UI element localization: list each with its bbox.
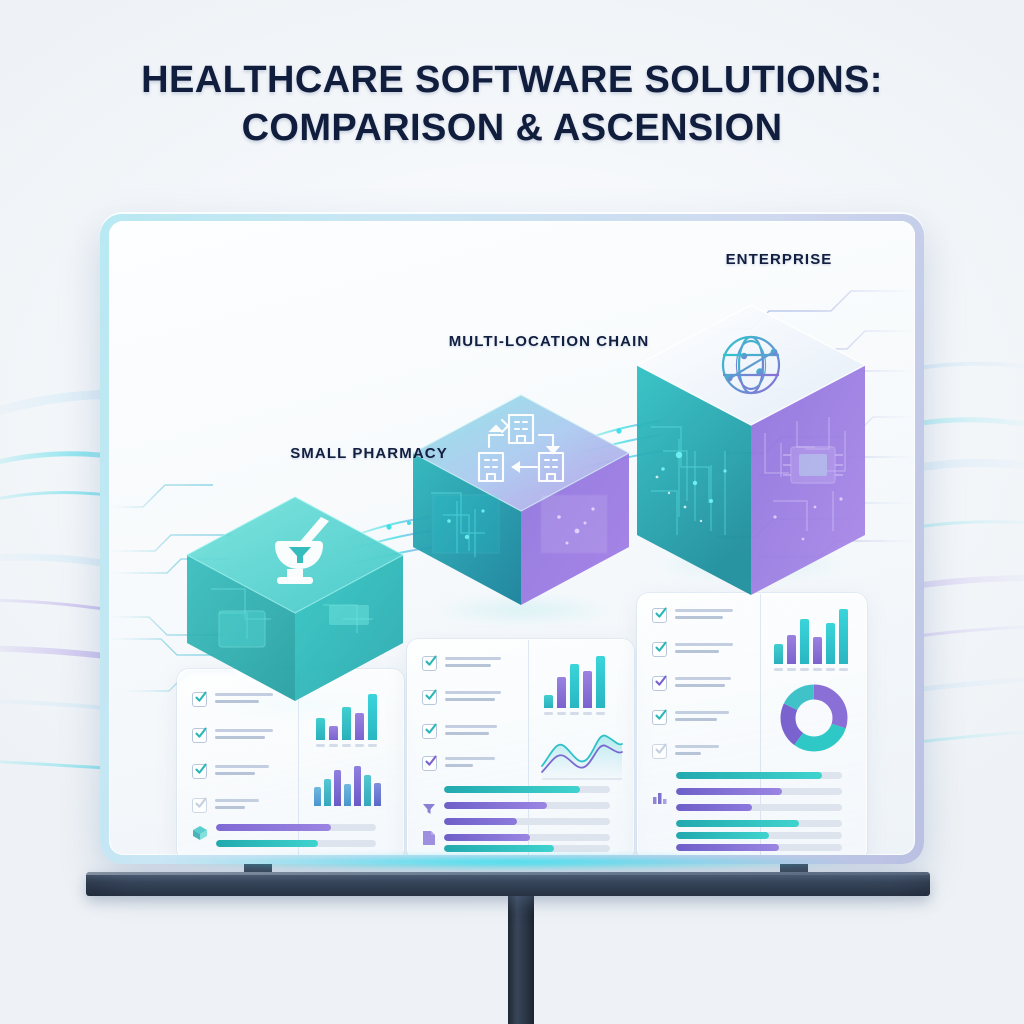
title-line-2: COMPARISON & ASCENSION	[0, 104, 1024, 152]
dashboard-card-multi-location-chain[interactable]	[407, 639, 634, 855]
check-icon	[424, 722, 438, 736]
progress-bar	[216, 824, 376, 831]
checklist-text	[675, 642, 733, 653]
dashboard-card-enterprise[interactable]	[637, 593, 867, 855]
infographic-stage: SMALL PHARMACY	[109, 221, 915, 855]
checkbox-checked[interactable]	[422, 724, 437, 739]
progress-bar	[216, 840, 376, 847]
progress-bar	[676, 832, 842, 839]
card-divider	[760, 594, 761, 855]
check-icon	[654, 640, 668, 654]
bar-chart-bottom	[314, 758, 381, 806]
checkbox-checked[interactable]	[422, 690, 437, 705]
tier-label-small-pharmacy: SMALL PHARMACY	[259, 443, 479, 464]
checkbox-checked[interactable]	[652, 642, 667, 657]
progress-bar	[444, 786, 610, 793]
checklist-item[interactable]	[652, 676, 731, 691]
bar	[316, 718, 325, 740]
checkbox-checked[interactable]	[652, 608, 667, 623]
check-icon	[654, 674, 668, 688]
checklist-item[interactable]	[422, 756, 495, 771]
bar	[342, 707, 351, 740]
checklist-text	[445, 690, 501, 701]
progress-bar	[444, 818, 610, 825]
checklist-item[interactable]	[422, 690, 501, 705]
area-line-chart	[540, 726, 624, 784]
filter-icon	[422, 802, 436, 821]
checklist-text	[675, 608, 733, 619]
bar	[329, 726, 338, 740]
checklist-text	[445, 656, 501, 667]
progress-bar	[676, 804, 842, 811]
checklist-text	[675, 744, 719, 755]
checklist-item[interactable]	[652, 710, 729, 725]
check-icon	[194, 726, 208, 740]
check-icon	[654, 708, 668, 722]
checklist-item[interactable]	[652, 642, 733, 657]
checklist-text	[215, 728, 273, 739]
checklist-item[interactable]	[652, 744, 719, 759]
checkbox-checked[interactable]	[652, 676, 667, 691]
progress-bar	[444, 845, 610, 852]
monitor-screen: SMALL PHARMACY	[109, 221, 915, 855]
checkbox-unchecked[interactable]	[652, 744, 667, 759]
donut-chart	[778, 682, 850, 754]
axis-ticks	[774, 668, 848, 671]
check-icon	[424, 754, 438, 768]
cube-small-pharmacy[interactable]	[183, 493, 407, 705]
monitor-stand-column	[508, 890, 534, 1024]
tier-label-multi-location-chain: MULTI-LOCATION CHAIN	[419, 331, 679, 352]
checklist-text	[215, 764, 269, 775]
bar-chart-icon	[652, 790, 668, 809]
checklist-text	[215, 798, 259, 809]
axis-ticks	[316, 744, 377, 747]
checklist-text	[445, 756, 495, 767]
checklist-text	[675, 710, 729, 721]
progress-bar	[676, 820, 842, 827]
progress-bar	[444, 802, 610, 809]
check-icon	[654, 742, 668, 756]
progress-bar	[444, 834, 610, 841]
check-icon	[194, 796, 208, 810]
progress-bar	[676, 844, 842, 851]
checklist-item[interactable]	[192, 798, 259, 813]
title-line-1: HEALTHCARE SOFTWARE SOLUTIONS:	[0, 56, 1024, 104]
progress-bar	[676, 772, 842, 779]
bar-chart	[774, 606, 848, 664]
page-title: HEALTHCARE SOFTWARE SOLUTIONS: COMPARISO…	[0, 56, 1024, 152]
checklist-text	[675, 676, 731, 687]
bar	[355, 713, 364, 740]
monitor-stand-crossbar	[86, 872, 930, 896]
checklist-item[interactable]	[192, 764, 269, 779]
check-icon	[424, 688, 438, 702]
check-icon	[654, 606, 668, 620]
progress-bar	[676, 788, 842, 795]
checklist-item[interactable]	[422, 656, 501, 671]
checkbox-checked[interactable]	[192, 764, 207, 779]
bar-chart	[544, 654, 605, 708]
checklist-text	[445, 724, 497, 735]
tier-label-enterprise: ENTERPRISE	[654, 249, 904, 270]
checklist-item[interactable]	[192, 728, 273, 743]
document-icon	[422, 830, 436, 851]
check-icon	[424, 654, 438, 668]
axis-ticks	[544, 712, 605, 715]
monitor-display: SMALL PHARMACY	[100, 212, 924, 864]
check-icon	[194, 762, 208, 776]
checkbox-checked[interactable]	[192, 728, 207, 743]
checkbox-checked[interactable]	[652, 710, 667, 725]
checklist-item[interactable]	[652, 608, 733, 623]
cube-multi-location-chain[interactable]	[409, 391, 633, 611]
screen-bottom-glow	[160, 854, 864, 870]
checklist-item[interactable]	[422, 724, 497, 739]
checkbox-checked[interactable]	[422, 756, 437, 771]
checkbox-unchecked[interactable]	[192, 798, 207, 813]
data-cube-icon	[192, 825, 208, 846]
checkbox-checked[interactable]	[422, 656, 437, 671]
